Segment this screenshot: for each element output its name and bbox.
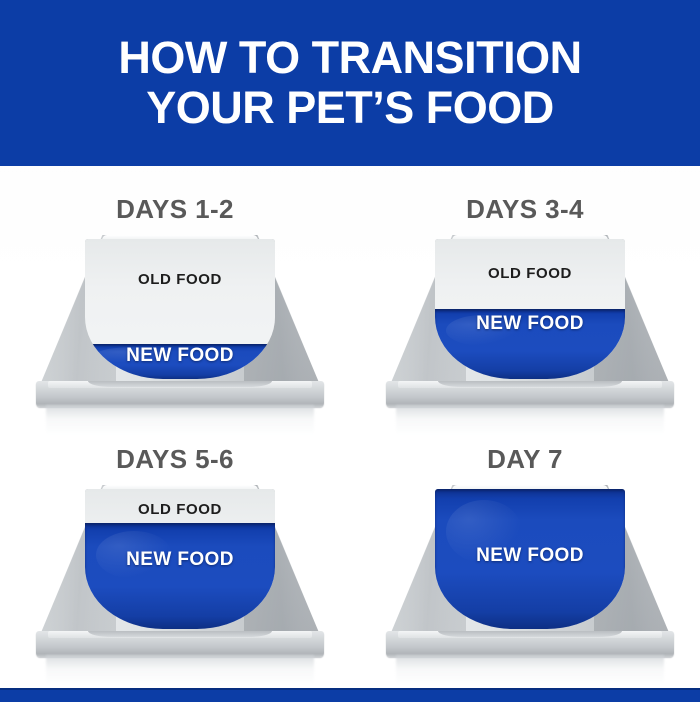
bowl-cavity: OLD FOOD NEW FOOD [435, 239, 625, 379]
page-title-line-2: YOUR PET’S FOOD [0, 83, 700, 133]
food-bowl: OLD FOOD NEW FOOD [40, 235, 320, 413]
bowl-base [36, 381, 324, 407]
food-bowl: NEW FOOD [390, 485, 670, 663]
bowl-base [386, 631, 674, 657]
bowl-base [386, 381, 674, 407]
step-panel-days-5-6: DAYS 5-6 OLD FOOD NEW FOOD [0, 430, 350, 685]
bowl-cavity: OLD FOOD NEW FOOD [85, 239, 275, 379]
food-bowl: OLD FOOD NEW FOOD [390, 235, 670, 413]
step-label: DAYS 3-4 [350, 194, 700, 225]
new-food-fill [85, 523, 275, 629]
bowl-base-notch [438, 631, 622, 637]
infographic-page: HOW TO TRANSITION YOUR PET’S FOOD DAYS 1… [0, 0, 700, 700]
page-title: HOW TO TRANSITION YOUR PET’S FOOD [0, 33, 700, 133]
bowl-base-notch [438, 381, 622, 387]
new-food-label: NEW FOOD [85, 549, 275, 571]
bowl-reflection [396, 655, 664, 685]
bowl-base-notch [88, 631, 272, 637]
step-label: DAYS 5-6 [0, 444, 350, 475]
old-food-label: OLD FOOD [435, 265, 625, 282]
food-bowl: OLD FOOD NEW FOOD [40, 485, 320, 663]
bowl-base-notch [88, 381, 272, 387]
bowl-cavity: OLD FOOD NEW FOOD [85, 489, 275, 629]
new-food-label: NEW FOOD [85, 345, 275, 367]
step-panel-days-3-4: DAYS 3-4 OLD FOOD NEW FOOD [350, 180, 700, 435]
header-divider [0, 164, 700, 166]
bowl-cavity: NEW FOOD [435, 489, 625, 629]
new-food-label: NEW FOOD [435, 545, 625, 567]
old-food-label: OLD FOOD [85, 501, 275, 518]
step-label: DAY 7 [350, 444, 700, 475]
step-panel-days-1-2: DAYS 1-2 OLD FOOD NEW FOOD [0, 180, 350, 435]
old-food-label: OLD FOOD [85, 271, 275, 288]
step-panel-day-7: DAY 7 NEW FOOD [350, 430, 700, 685]
header-banner: HOW TO TRANSITION YOUR PET’S FOOD [0, 0, 700, 164]
bowl-reflection [46, 655, 314, 685]
page-title-line-1: HOW TO TRANSITION [0, 33, 700, 83]
new-food-label: NEW FOOD [435, 313, 625, 335]
bowl-base [36, 631, 324, 657]
step-label: DAYS 1-2 [0, 194, 350, 225]
